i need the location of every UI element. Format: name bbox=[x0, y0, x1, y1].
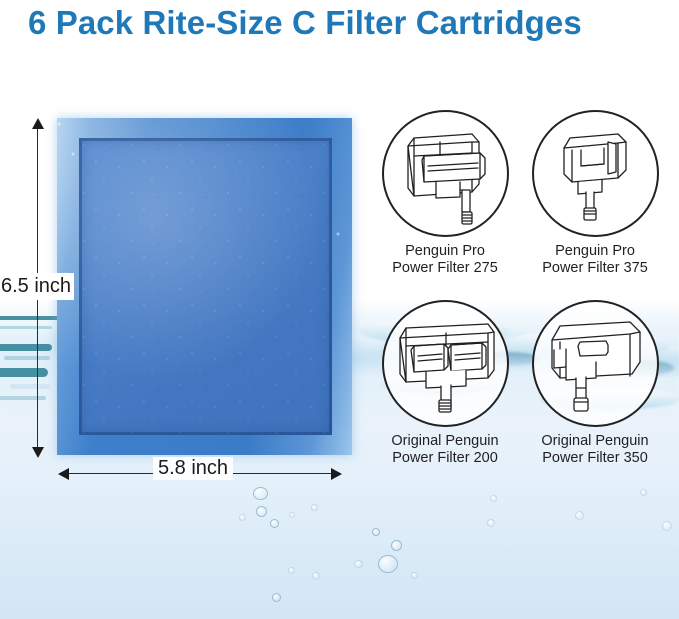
bubble bbox=[270, 519, 279, 528]
arrow-left-icon bbox=[58, 468, 69, 480]
bubble bbox=[411, 572, 418, 579]
original-penguin-power-filter-200-icon bbox=[382, 300, 509, 427]
compat-caption-line1: Original Penguin bbox=[370, 433, 520, 450]
bubble bbox=[256, 506, 267, 517]
compat-item-penguin-pro-275: Penguin Pro Power Filter 275 bbox=[370, 110, 520, 277]
compatibility-grid: Penguin Pro Power Filter 275 bbox=[370, 110, 670, 500]
compat-item-original-penguin-200: Original Penguin Power Filter 200 bbox=[370, 300, 520, 467]
bubble bbox=[311, 504, 318, 511]
bubble bbox=[378, 555, 398, 573]
compat-caption: Original Penguin Power Filter 350 bbox=[520, 433, 670, 467]
compat-caption: Penguin Pro Power Filter 375 bbox=[520, 243, 670, 277]
bubble bbox=[288, 567, 295, 574]
compat-caption-line1: Original Penguin bbox=[520, 433, 670, 450]
arrow-up-icon bbox=[32, 118, 44, 129]
bubble bbox=[662, 521, 672, 531]
arrow-right-icon bbox=[331, 468, 342, 480]
compat-caption-line1: Penguin Pro bbox=[370, 243, 520, 260]
compat-caption-line2: Power Filter 375 bbox=[520, 260, 670, 277]
bubble bbox=[487, 519, 495, 527]
compat-caption: Original Penguin Power Filter 200 bbox=[370, 433, 520, 467]
cartridge-floss-pad bbox=[79, 138, 332, 435]
bubble bbox=[253, 487, 268, 500]
compat-caption-line2: Power Filter 200 bbox=[370, 450, 520, 467]
compat-caption: Penguin Pro Power Filter 275 bbox=[370, 243, 520, 277]
page-title: 6 Pack Rite-Size C Filter Cartridges bbox=[28, 4, 668, 42]
filter-cartridge-image bbox=[57, 118, 352, 455]
compat-caption-line2: Power Filter 350 bbox=[520, 450, 670, 467]
compat-item-penguin-pro-375: Penguin Pro Power Filter 375 bbox=[520, 110, 670, 277]
bubble bbox=[391, 540, 402, 551]
penguin-pro-power-filter-275-icon bbox=[382, 110, 509, 237]
bubble bbox=[575, 511, 584, 520]
bubble bbox=[272, 593, 281, 602]
bubble bbox=[372, 528, 380, 536]
compat-caption-line1: Penguin Pro bbox=[520, 243, 670, 260]
bubble bbox=[354, 560, 363, 568]
original-penguin-power-filter-350-icon bbox=[532, 300, 659, 427]
width-dimension-label: 5.8 inch bbox=[153, 457, 233, 480]
bubble bbox=[312, 572, 320, 580]
height-dimension-label: 6.5 inch bbox=[0, 273, 74, 300]
cartridge-foam-frame bbox=[57, 118, 352, 455]
arrow-down-icon bbox=[32, 447, 44, 458]
compat-item-original-penguin-350: Original Penguin Power Filter 350 bbox=[520, 300, 670, 467]
compat-caption-line2: Power Filter 275 bbox=[370, 260, 520, 277]
width-dimension-arrow: 5.8 inch bbox=[58, 466, 342, 482]
foam-texture bbox=[79, 138, 332, 435]
bubble bbox=[289, 512, 295, 518]
product-infographic: 6 Pack Rite-Size C Filter Cartridges 6.5… bbox=[0, 0, 679, 619]
penguin-pro-power-filter-375-icon bbox=[532, 110, 659, 237]
bubble bbox=[239, 514, 246, 521]
